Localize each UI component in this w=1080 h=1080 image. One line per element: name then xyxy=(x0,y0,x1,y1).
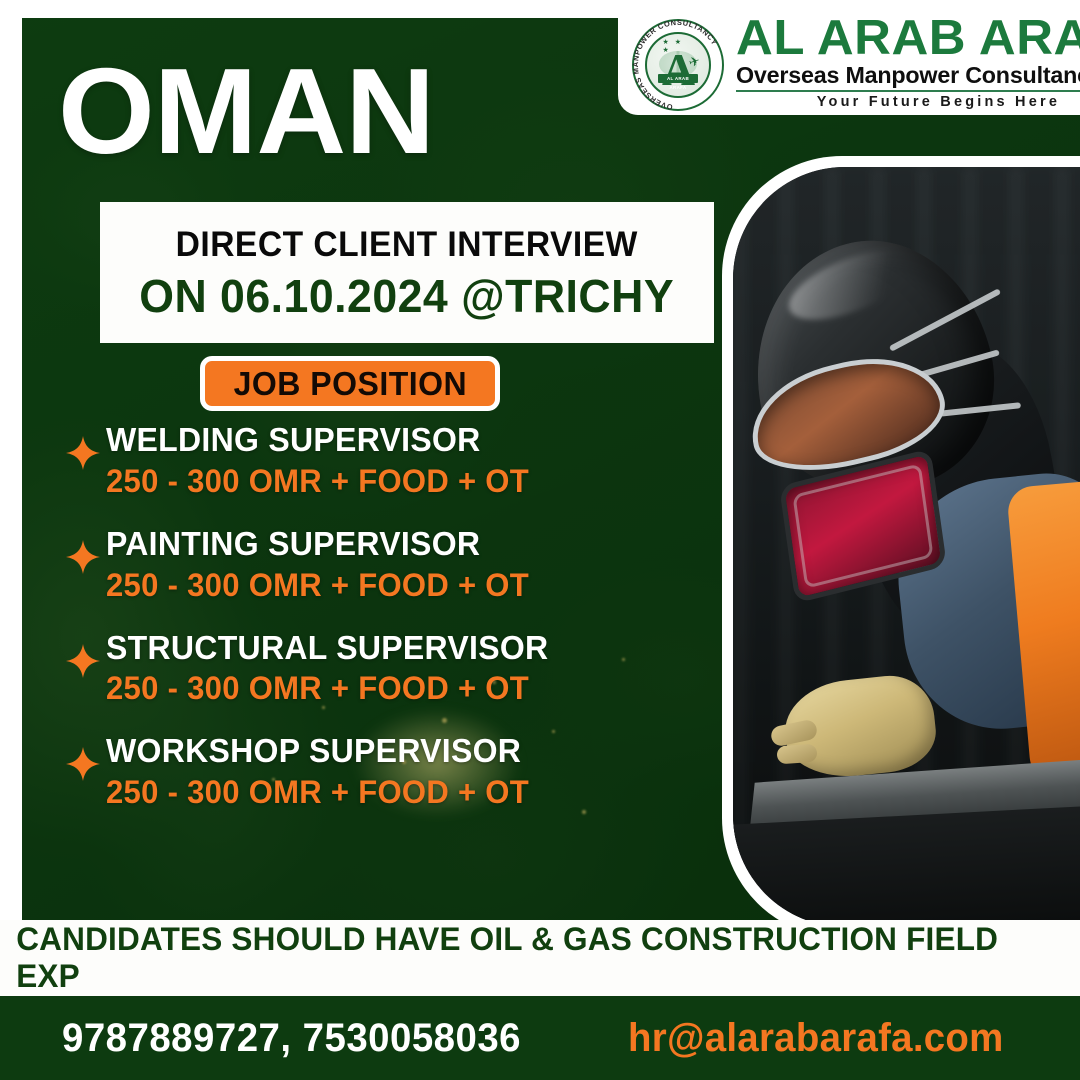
welder-photo xyxy=(733,167,1080,927)
company-emblem-icon: ★ ★ ★ A ✈ AL ARAB ARAFA OVERSEAS MANPOWE… xyxy=(632,19,724,111)
interview-title: DIRECT CLIENT INTERVIEW xyxy=(176,227,638,262)
page-title: OMAN xyxy=(58,50,434,172)
contact-email[interactable]: hr@alarabarafa.com xyxy=(628,1016,1004,1061)
sparkle-icon xyxy=(60,436,106,470)
svg-text:OVERSEAS MANPOWER CONSULTANCY: OVERSEAS MANPOWER CONSULTANCY xyxy=(632,19,719,111)
sparkle-icon xyxy=(60,540,106,574)
welder-photo-panel xyxy=(722,156,1080,938)
company-logo-band: ★ ★ ★ A ✈ AL ARAB ARAFA OVERSEAS MANPOWE… xyxy=(618,18,1080,115)
brand-divider xyxy=(736,90,1080,92)
job-item: PAINTING SUPERVISOR 250 - 300 OMR + FOOD… xyxy=(60,526,700,604)
job-title: PAINTING SUPERVISOR xyxy=(106,526,682,563)
job-position-badge-label: JOB POSITION xyxy=(233,365,466,403)
job-item: WORKSHOP SUPERVISOR 250 - 300 OMR + FOOD… xyxy=(60,733,700,811)
job-salary: 250 - 300 OMR + FOOD + OT xyxy=(106,670,682,707)
job-salary: 250 - 300 OMR + FOOD + OT xyxy=(106,774,682,811)
job-list: WELDING SUPERVISOR 250 - 300 OMR + FOOD … xyxy=(60,422,700,811)
job-item: STRUCTURAL SUPERVISOR 250 - 300 OMR + FO… xyxy=(60,630,700,708)
brand-tagline: Your Future Begins Here xyxy=(736,94,1080,110)
recruitment-poster: OMAN ★ ★ ★ A ✈ AL ARAB ARAFA OVERSEAS MA… xyxy=(0,0,1080,1080)
requirement-bar: CANDIDATES SHOULD HAVE OIL & GAS CONSTRU… xyxy=(0,920,1080,996)
job-title: STRUCTURAL SUPERVISOR xyxy=(106,630,682,667)
job-salary: 250 - 300 OMR + FOOD + OT xyxy=(106,463,682,500)
brand-subtitle: Overseas Manpower Consultancy xyxy=(736,63,1080,89)
job-salary: 250 - 300 OMR + FOOD + OT xyxy=(106,567,682,604)
sparkle-icon xyxy=(60,644,106,678)
contact-footer: 9787889727, 7530058036 hr@alarabarafa.co… xyxy=(0,996,1080,1080)
sparkle-icon xyxy=(60,747,106,781)
job-title: WORKSHOP SUPERVISOR xyxy=(106,733,682,770)
company-wordmark: AL ARAB ARAFA Overseas Manpower Consulta… xyxy=(736,18,1080,110)
emblem-circular-text: OVERSEAS MANPOWER CONSULTANCY xyxy=(632,19,724,111)
interview-date-location: ON 06.10.2024 @TRICHY xyxy=(140,273,675,319)
requirement-text: CANDIDATES SHOULD HAVE OIL & GAS CONSTRU… xyxy=(16,921,1064,995)
job-title: WELDING SUPERVISOR xyxy=(106,422,682,459)
job-position-badge: JOB POSITION xyxy=(200,356,500,411)
job-item: WELDING SUPERVISOR 250 - 300 OMR + FOOD … xyxy=(60,422,700,500)
interview-banner: DIRECT CLIENT INTERVIEW ON 06.10.2024 @T… xyxy=(100,202,714,343)
brand-name: AL ARAB ARAFA xyxy=(736,18,1080,62)
contact-phone-numbers[interactable]: 9787889727, 7530058036 xyxy=(62,1016,521,1061)
